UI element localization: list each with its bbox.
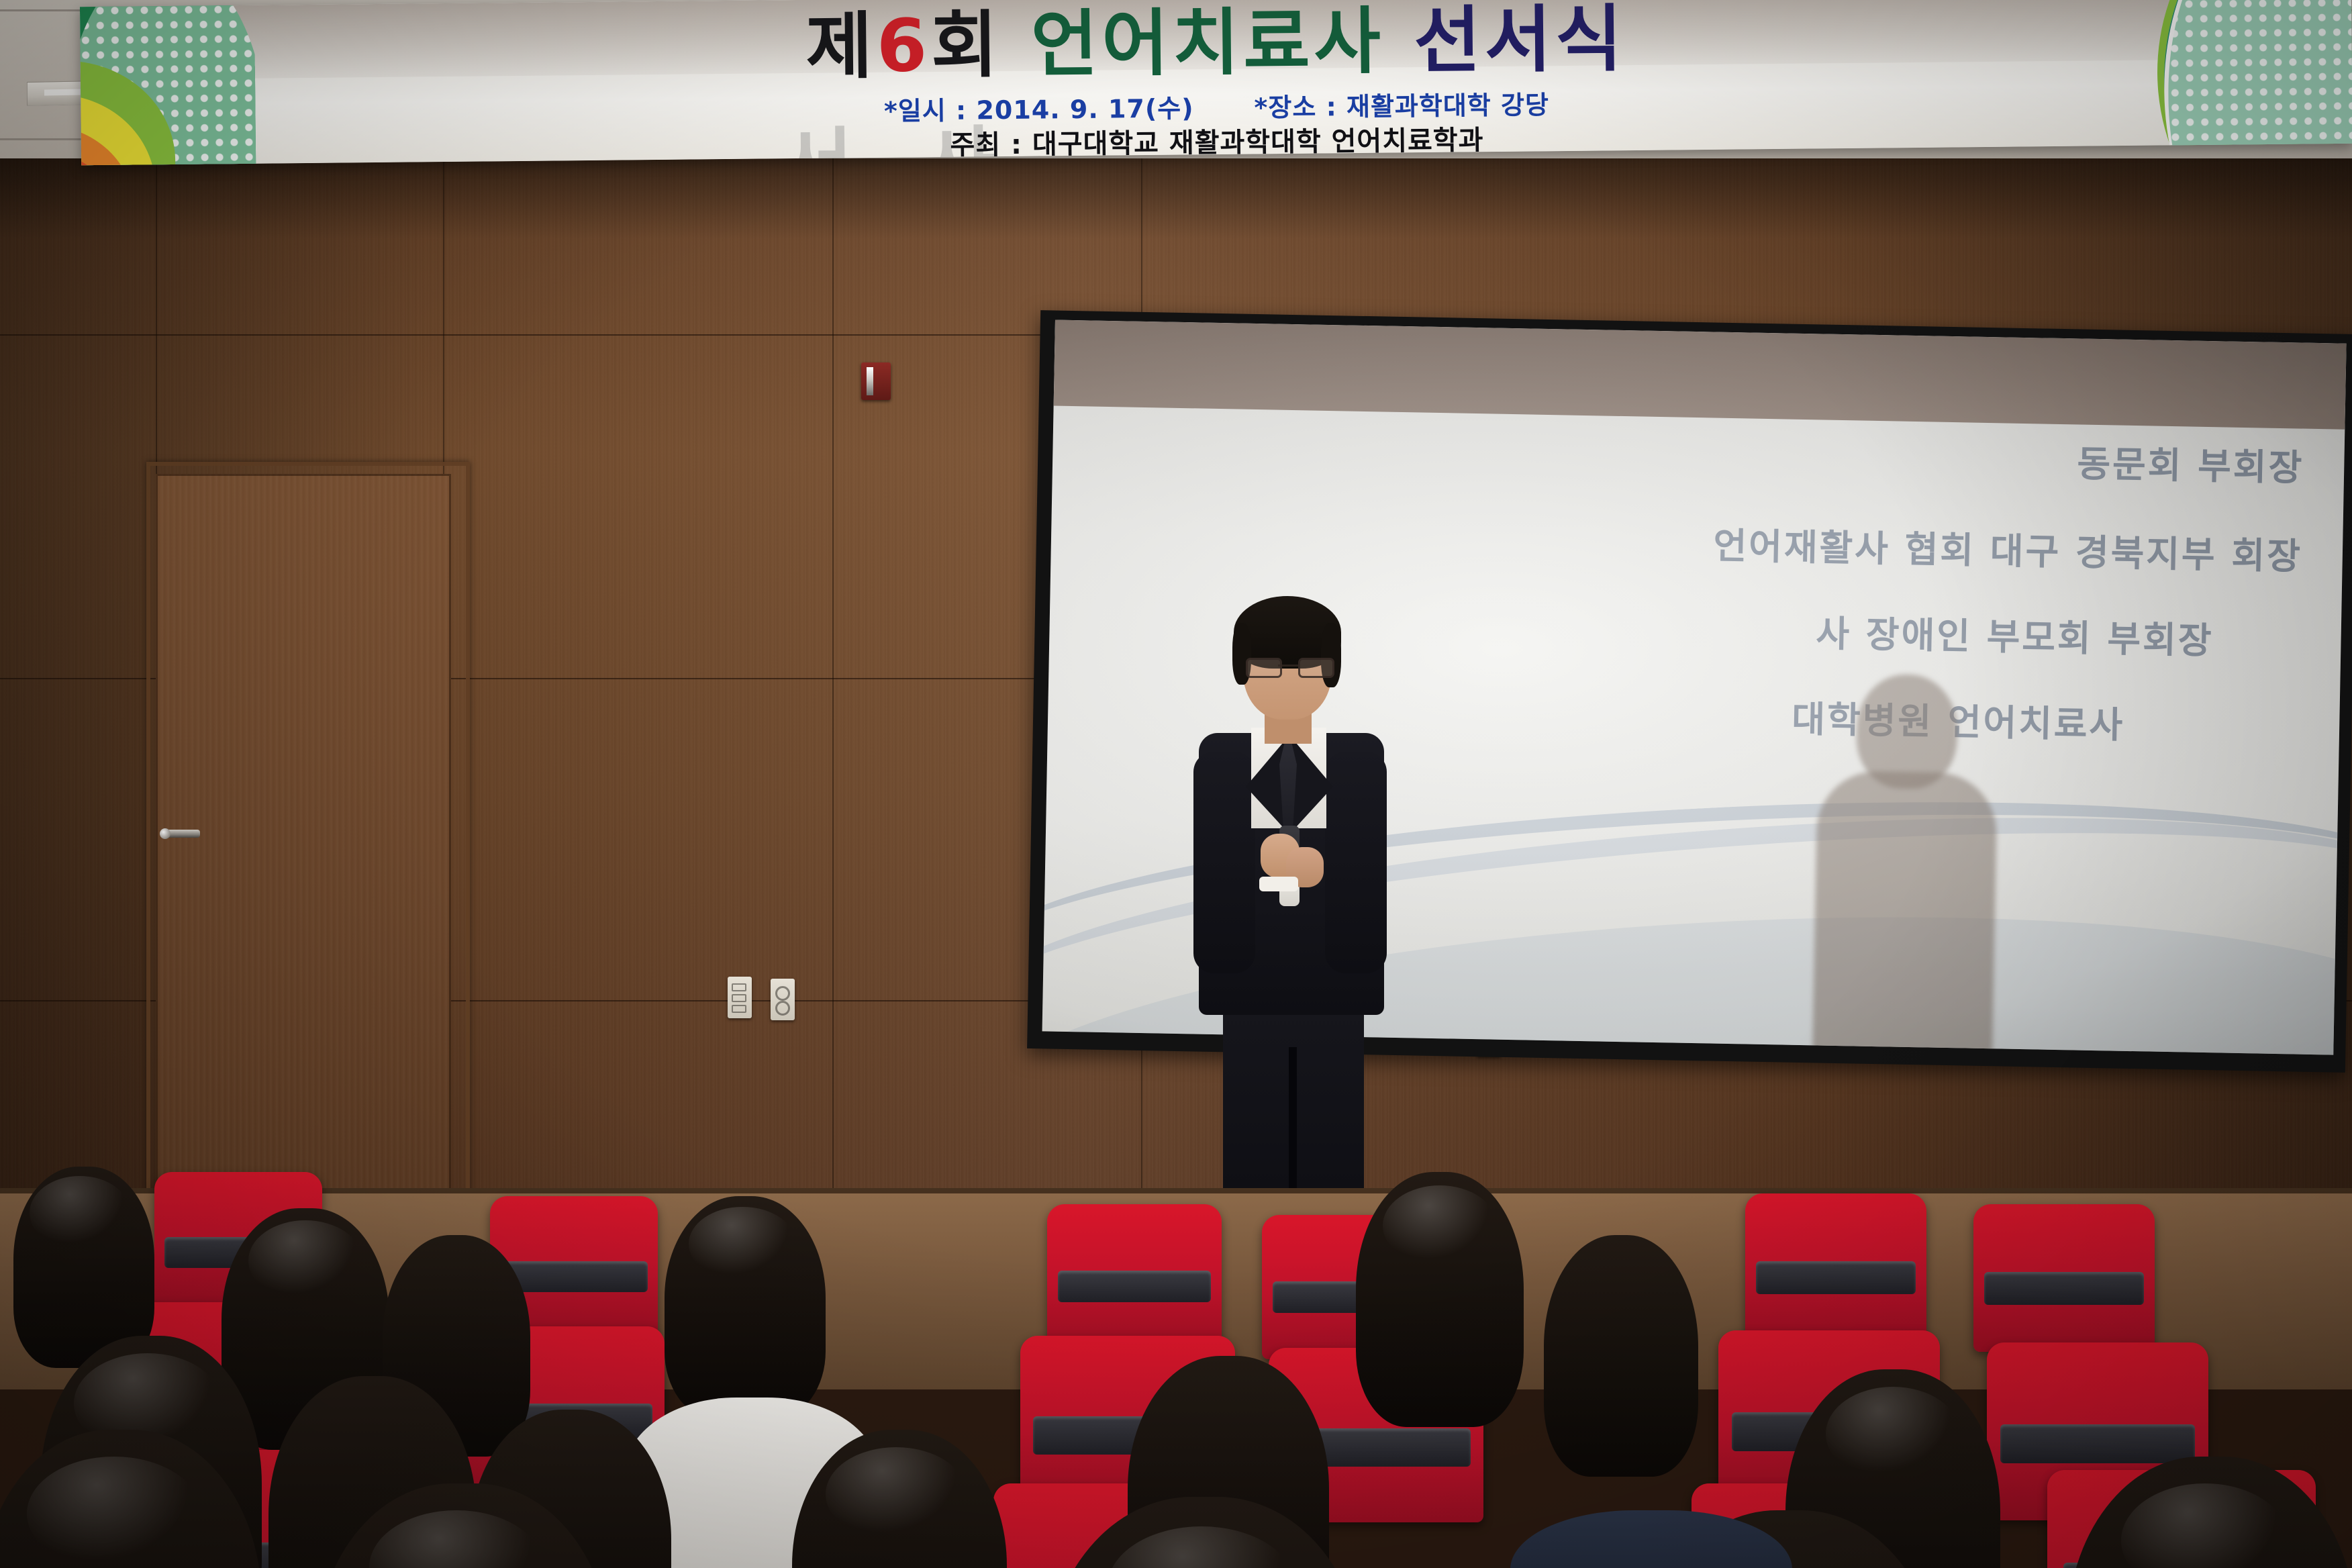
light-switch-plate[interactable] [728,977,752,1018]
banner-title-part: 제 [805,5,877,89]
audience-hair [1544,1235,1698,1477]
switch-slot [732,994,746,1002]
hair-highlight [30,1176,130,1250]
hair-highlight [1383,1185,1497,1266]
hair-highlight [689,1207,796,1281]
outlet-socket [775,1001,790,1016]
photo-scene: 서 사 제6회 언어치료사 선서식 *일시 : 2014. 9. 17(수)*장… [0,0,2352,1568]
side-door[interactable] [156,474,451,1212]
banner-title-part: 선서식 [1414,0,1626,83]
wall-shadow [0,158,2352,239]
glasses-lens [1298,658,1334,678]
hair-highlight [1826,1387,1960,1481]
fire-alarm-box [861,362,891,400]
switch-slot [732,983,746,991]
presenter-arm-left [1193,752,1255,973]
hair-highlight [248,1220,362,1301]
auditorium-seat[interactable] [1973,1204,2155,1352]
power-outlet-plate[interactable] [771,979,795,1020]
auditorium-seat[interactable] [1745,1193,1926,1341]
hair-highlight [826,1447,967,1541]
banner-title-part: 언어치료사 [1001,0,1414,87]
door-handle-knob[interactable] [160,828,170,839]
banner-title-part: 회 [930,3,1002,88]
audience-area [0,1134,2352,1568]
glasses-lens [1246,658,1282,678]
outlet-socket [775,986,790,1001]
switch-slot [732,1005,746,1013]
presenter-arm-right [1325,752,1387,973]
presenter-shirt-cuff [1259,877,1298,891]
hair-highlight [27,1457,201,1568]
glasses-bridge [1278,665,1298,667]
event-banner: 서 사 제6회 언어치료사 선서식 *일시 : 2014. 9. 17(수)*장… [80,0,2352,165]
banner-title-number: 6 [876,4,931,89]
wall-panel-seam [832,158,834,1206]
auditorium-seat[interactable] [1047,1204,1222,1349]
glasses-icon [1246,658,1330,675]
